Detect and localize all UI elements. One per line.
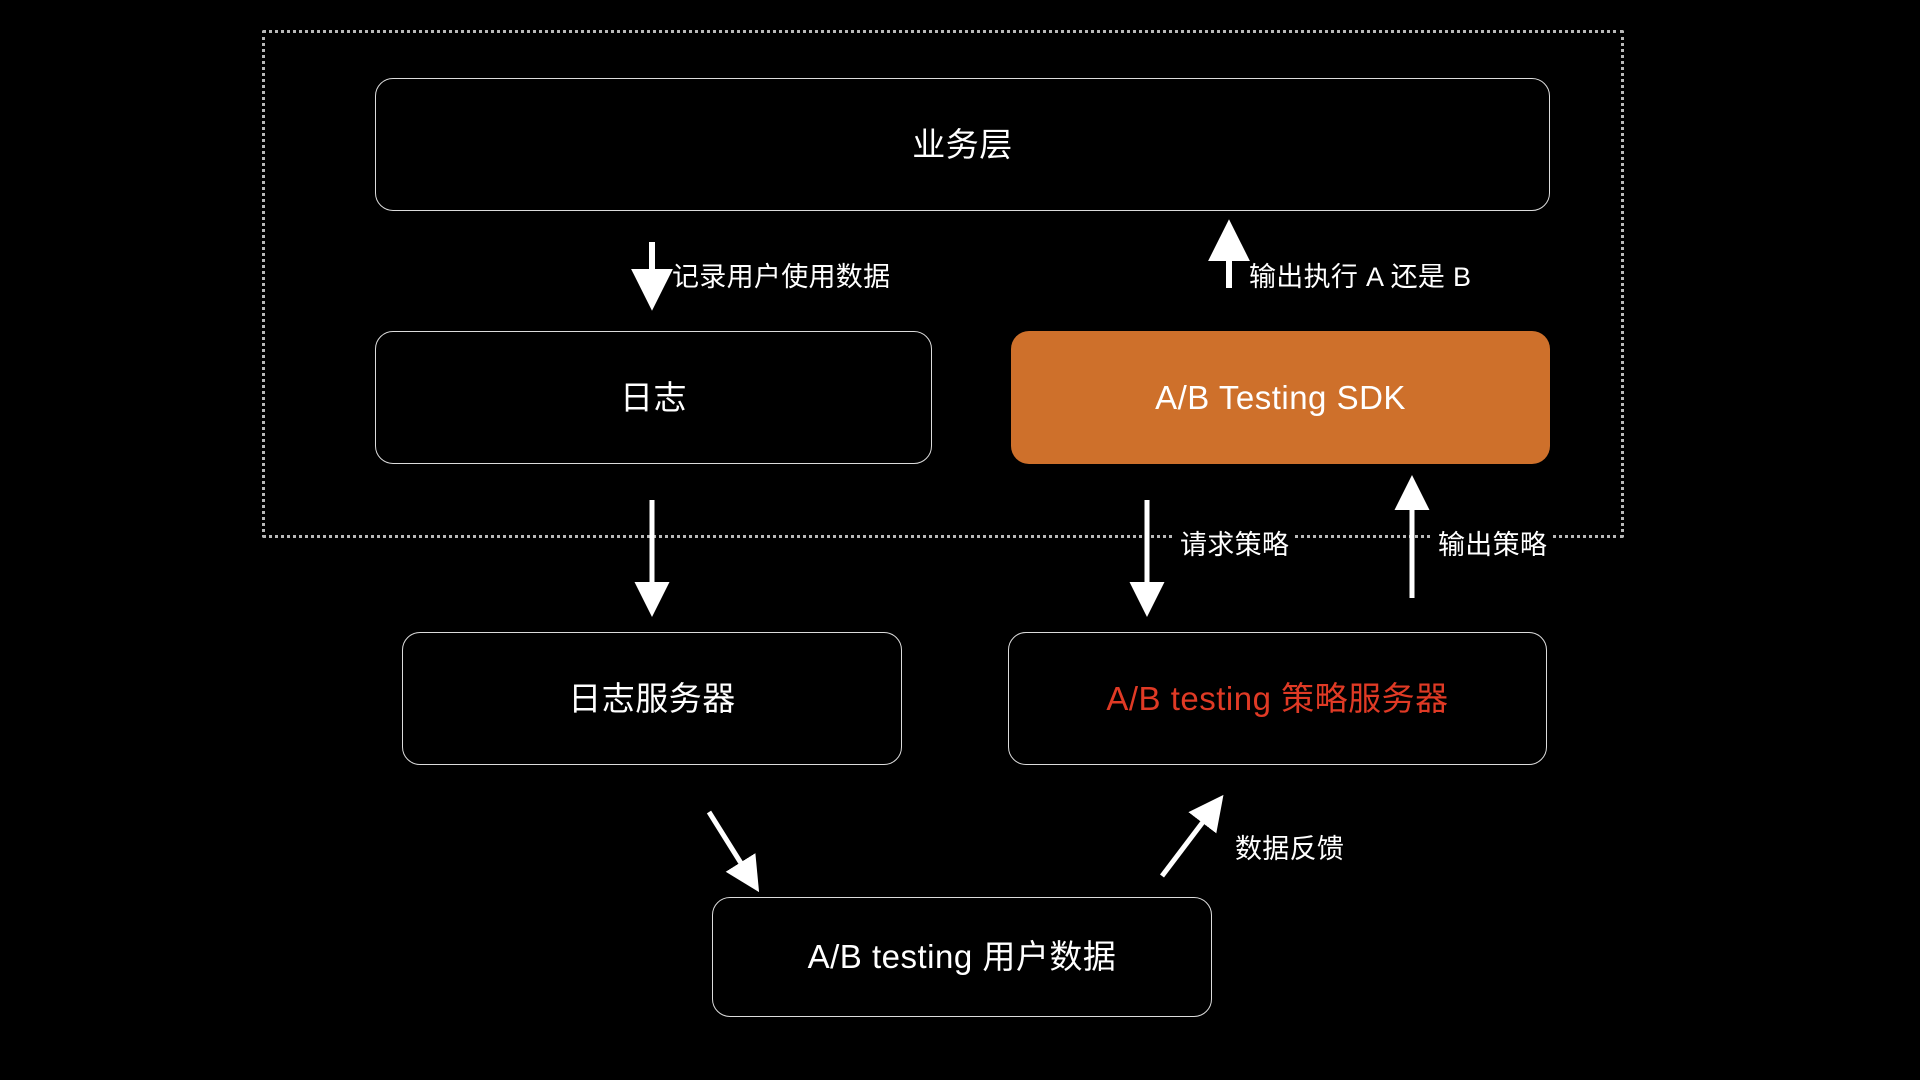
edge-label-data-feedback: 数据反馈 (1235, 827, 1344, 866)
edge-label-record-usage-data: 记录用户使用数据 (672, 255, 890, 294)
node-ab-testing-sdk[interactable]: A/B Testing SDK (1011, 331, 1550, 464)
node-log-server[interactable]: 日志服务器 (402, 632, 902, 765)
node-log[interactable]: 日志 (375, 331, 932, 464)
edge-label-output-strategy: 输出策略 (1432, 523, 1553, 562)
diagram-canvas: 业务层 日志 A/B Testing SDK 日志服务器 A/B testing… (0, 0, 1920, 1080)
node-business-layer-label: 业务层 (912, 125, 1013, 165)
edge-label-output-a-or-b: 输出执行 A 还是 B (1249, 255, 1471, 294)
node-business-layer[interactable]: 业务层 (375, 78, 1550, 211)
edge-label-request-strategy: 请求策略 (1174, 523, 1295, 562)
node-strategy-server-label: A/B testing 策略服务器 (1106, 679, 1448, 719)
arrow-userdata-to-strategy (1162, 810, 1212, 876)
node-strategy-server[interactable]: A/B testing 策略服务器 (1008, 632, 1547, 765)
node-user-data[interactable]: A/B testing 用户数据 (712, 897, 1212, 1017)
node-log-label: 日志 (620, 378, 687, 418)
node-log-server-label: 日志服务器 (568, 679, 736, 719)
node-user-data-label: A/B testing 用户数据 (808, 937, 1117, 977)
arrow-logserver-to-userdata (709, 812, 749, 876)
node-ab-testing-sdk-label: A/B Testing SDK (1155, 378, 1406, 418)
